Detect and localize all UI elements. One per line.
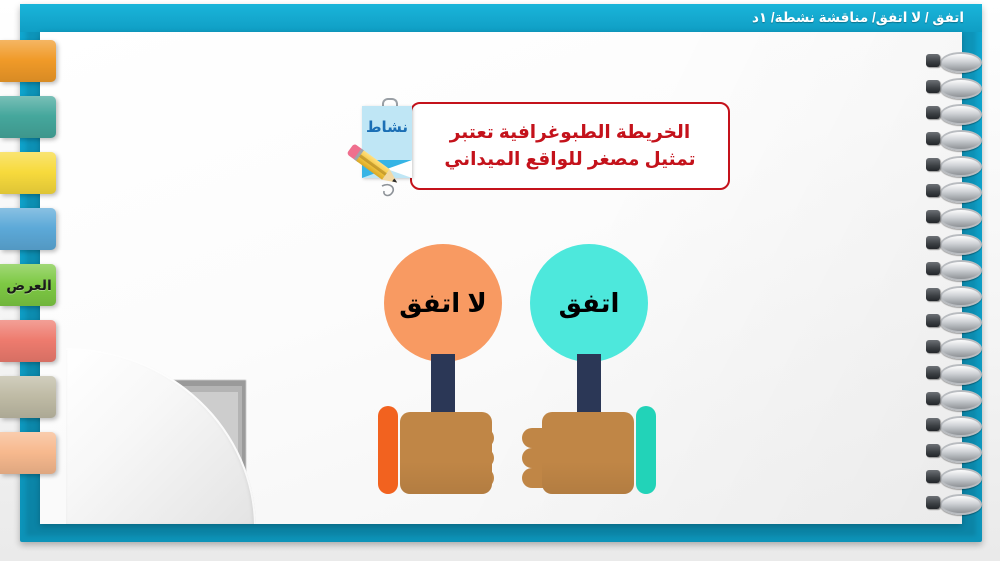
- spiral-ring: [926, 312, 978, 329]
- spiral-binding: [926, 36, 982, 526]
- spiral-ring-cap: [926, 262, 940, 275]
- spiral-ring-wire: [940, 182, 982, 203]
- spiral-ring-wire: [940, 234, 982, 255]
- spiral-ring-wire: [940, 312, 982, 333]
- spiral-ring: [926, 364, 978, 381]
- sidebar-tab-red[interactable]: [0, 320, 56, 362]
- spiral-ring-cap: [926, 340, 940, 353]
- spiral-ring-cap: [926, 80, 940, 93]
- paddle-disagree-label: لا اتفق: [399, 288, 486, 319]
- spiral-ring: [926, 390, 978, 407]
- slide-canvas: اتفق / لا اتفق/ مناقشة نشطة/ ١د الخريطة …: [0, 0, 1000, 561]
- cuff-left: [378, 406, 398, 494]
- spiral-ring-cap: [926, 132, 940, 145]
- spiral-ring-cap: [926, 158, 940, 171]
- callout-box: الخريطة الطبوغرافية تعتبر تمثيل مصغر للو…: [410, 102, 730, 190]
- spiral-ring: [926, 130, 978, 147]
- spiral-ring-cap: [926, 444, 940, 457]
- notebook-page: الخريطة الطبوغرافية تعتبر تمثيل مصغر للو…: [40, 32, 962, 524]
- title-bar: اتفق / لا اتفق/ مناقشة نشطة/ ١د: [20, 4, 982, 32]
- spiral-ring: [926, 182, 978, 199]
- note-label: نشاط: [362, 118, 412, 136]
- spiral-ring: [926, 104, 978, 121]
- paddle-agree-label: اتفق: [559, 288, 620, 319]
- spiral-ring: [926, 52, 978, 69]
- spiral-ring-wire: [940, 260, 982, 281]
- spiral-ring-wire: [940, 390, 982, 411]
- spiral-ring: [926, 442, 978, 459]
- spiral-ring-wire: [940, 52, 982, 73]
- spiral-ring: [926, 416, 978, 433]
- callout-line-1: الخريطة الطبوغرافية تعتبر: [450, 121, 690, 142]
- spiral-ring-cap: [926, 210, 940, 223]
- spiral-ring: [926, 208, 978, 225]
- spiral-ring-cap: [926, 184, 940, 197]
- slide-title: اتفق / لا اتفق/ مناقشة نشطة/ ١د: [752, 10, 964, 26]
- callout-line-2: تمثيل مصغر للواقع الميداني: [444, 148, 695, 169]
- fist-right-shade: [542, 412, 634, 494]
- sidebar-tab-green-label: العرض: [4, 277, 52, 294]
- spiral-ring-cap: [926, 288, 940, 301]
- spiral-ring-wire: [940, 338, 982, 359]
- spiral-ring-cap: [926, 392, 940, 405]
- paddle-agree[interactable]: اتفق: [530, 244, 662, 498]
- spiral-ring-cap: [926, 236, 940, 249]
- spiral-ring-wire: [940, 286, 982, 307]
- squiggle-icon: [380, 182, 410, 200]
- spiral-ring-cap: [926, 314, 940, 327]
- sidebar-tab-khaki[interactable]: [0, 376, 56, 418]
- spiral-ring: [926, 338, 978, 355]
- spiral-ring-wire: [940, 442, 982, 463]
- spiral-ring-wire: [940, 416, 982, 437]
- spiral-ring: [926, 156, 978, 173]
- spiral-ring-cap: [926, 496, 940, 509]
- spiral-ring: [926, 468, 978, 485]
- spiral-ring: [926, 260, 978, 277]
- hand-left: [378, 406, 510, 494]
- spiral-ring: [926, 78, 978, 95]
- spiral-ring-cap: [926, 366, 940, 379]
- paddle-agree-disc: اتفق: [530, 244, 648, 362]
- sidebar-tab-teal[interactable]: [0, 96, 56, 138]
- sidebar-tab-orange[interactable]: [0, 40, 56, 82]
- spiral-ring-wire: [940, 156, 982, 177]
- spiral-ring-cap: [926, 470, 940, 483]
- sidebar-tab-peach[interactable]: [0, 432, 56, 474]
- sidebar-tab-green[interactable]: العرض: [0, 264, 56, 306]
- spiral-ring-cap: [926, 418, 940, 431]
- spiral-ring-cap: [926, 54, 940, 67]
- paddle-disagree[interactable]: لا اتفق: [384, 244, 516, 498]
- spiral-ring: [926, 234, 978, 251]
- sidebar-tab-blue[interactable]: [0, 208, 56, 250]
- cuff-right: [636, 406, 656, 494]
- spiral-ring-cap: [926, 106, 940, 119]
- spiral-ring-wire: [940, 208, 982, 229]
- spiral-ring: [926, 494, 978, 511]
- spiral-ring-wire: [940, 468, 982, 489]
- sidebar-tab-yellow[interactable]: [0, 152, 56, 194]
- sidebar-tabs: العرض: [0, 40, 62, 440]
- hand-right: [524, 406, 656, 494]
- spiral-ring-wire: [940, 104, 982, 125]
- callout-text: الخريطة الطبوغرافية تعتبر تمثيل مصغر للو…: [430, 119, 709, 173]
- paddle-disagree-disc: لا اتفق: [384, 244, 502, 362]
- spiral-ring-wire: [940, 130, 982, 151]
- spiral-ring-wire: [940, 364, 982, 385]
- spiral-ring-wire: [940, 494, 982, 515]
- spiral-ring: [926, 286, 978, 303]
- activity-note: نشاط: [352, 98, 424, 202]
- page-curl-edge: [66, 348, 256, 524]
- fist-left-shade: [400, 412, 492, 494]
- spiral-ring-wire: [940, 78, 982, 99]
